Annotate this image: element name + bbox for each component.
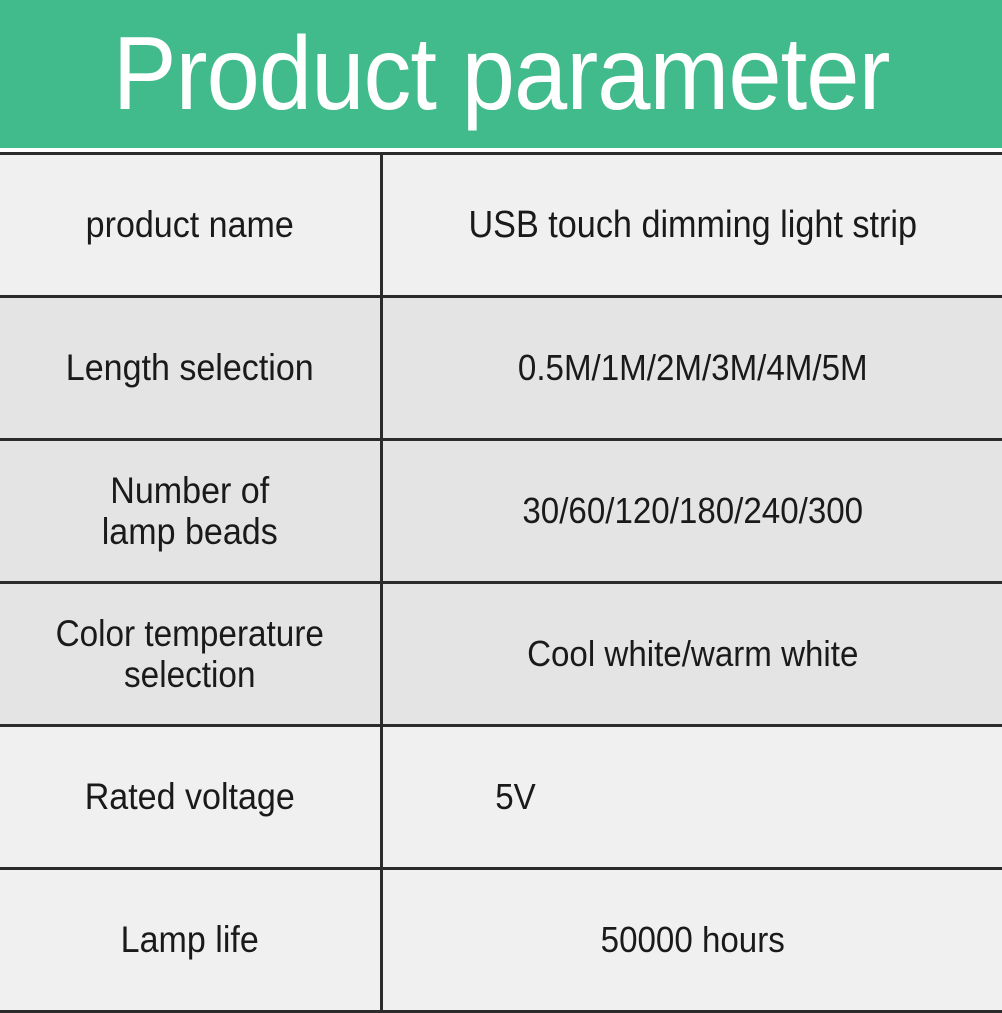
table-row: Lamp life 50000 hours (0, 869, 1002, 1012)
table-row: Length selection 0.5M/1M/2M/3M/4M/5M (0, 297, 1002, 440)
spec-value-cell: 0.5M/1M/2M/3M/4M/5M (381, 297, 1002, 440)
spec-label: Number of lamp beads (15, 470, 364, 553)
spec-label-cell: Length selection (0, 297, 381, 440)
specification-table: product name USB touch dimming light str… (0, 152, 1002, 1013)
spec-label: Color temperature selection (19, 613, 361, 696)
spec-label-cell: Lamp life (0, 869, 381, 1012)
spec-value: Cool white/warm white (407, 634, 977, 674)
spec-value-cell: USB touch dimming light strip (381, 154, 1002, 297)
spec-value: 30/60/120/180/240/300 (407, 491, 977, 531)
page-title: Product parameter (113, 22, 890, 126)
spec-value: USB touch dimming light strip (413, 204, 971, 247)
table-row: Rated voltage 5V (0, 726, 1002, 869)
table-row: Color temperature selection Cool white/w… (0, 583, 1002, 726)
spec-label-cell: Color temperature selection (0, 583, 381, 726)
banner-header: Product parameter (0, 0, 1002, 148)
spec-value-cell: 50000 hours (381, 869, 1002, 1012)
spec-value-cell: Cool white/warm white (381, 583, 1002, 726)
spec-label-cell: Number of lamp beads (0, 440, 381, 583)
spec-label: Length selection (15, 347, 364, 388)
spec-value: 50000 hours (407, 920, 977, 960)
table-row: Number of lamp beads 30/60/120/180/240/3… (0, 440, 1002, 583)
product-parameter-page: Product parameter product name USB touch… (0, 0, 1002, 1002)
table-row: product name USB touch dimming light str… (0, 154, 1002, 297)
spec-label: Lamp life (15, 919, 364, 960)
spec-value: 0.5M/1M/2M/3M/4M/5M (407, 348, 977, 388)
spec-label-cell: product name (0, 154, 381, 297)
spec-label: product name (15, 204, 364, 245)
spec-label: Rated voltage (15, 776, 364, 817)
spec-label-cell: Rated voltage (0, 726, 381, 869)
spec-value: 5V (383, 777, 953, 817)
spec-value-cell: 5V (381, 726, 1002, 869)
spec-value-cell: 30/60/120/180/240/300 (381, 440, 1002, 583)
